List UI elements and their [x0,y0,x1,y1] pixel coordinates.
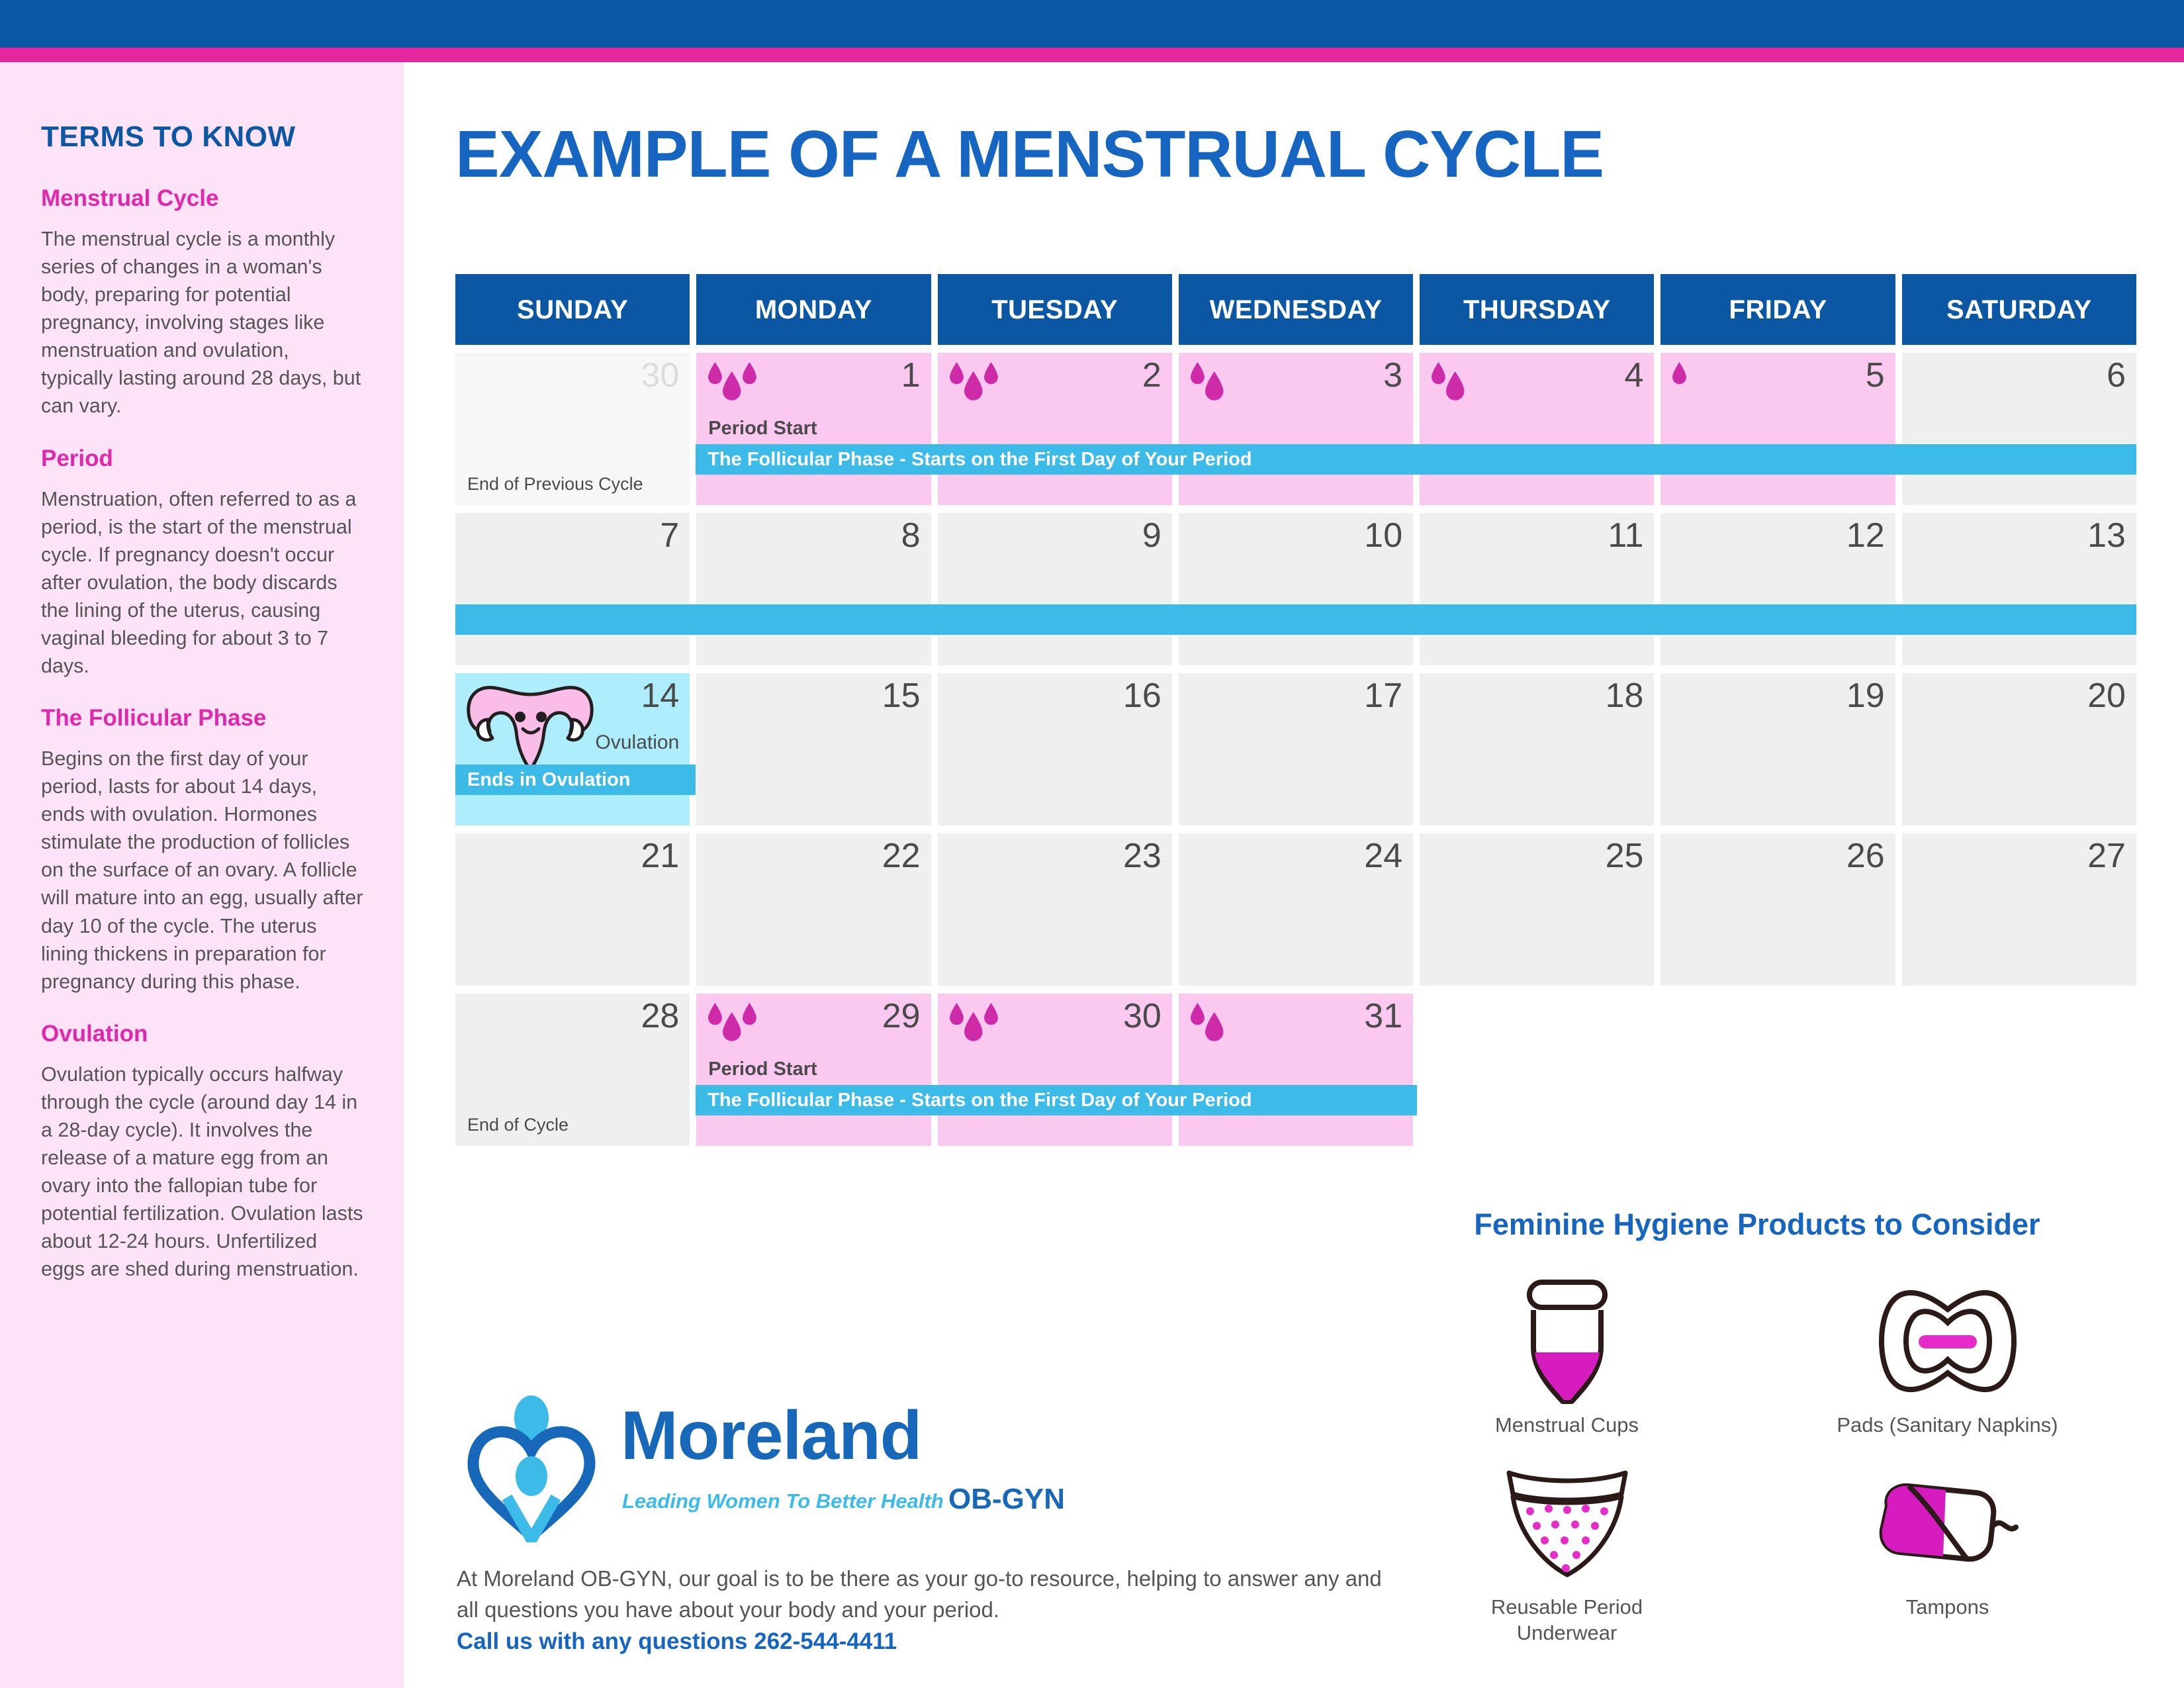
calendar-day-cell-11[interactable]: 11 [1420,513,1654,665]
calendar-day-cell-25[interactable]: 25 [1420,833,1654,986]
calendar-day-cell-empty[interactable] [1661,994,1895,1146]
term-body-2: Begins on the first day of your period, … [41,745,364,996]
product-label: Menstrual Cups [1377,1413,1757,1438]
tampon-icon [1757,1457,2138,1589]
product-tampon: Tampons [1757,1457,2138,1646]
calendar-day-cell-9[interactable]: 9 [938,513,1172,665]
cycle-boundary-label: End of Previous Cycle [467,474,643,494]
day-number: 24 [1364,837,1402,875]
day-number: 26 [1846,837,1885,875]
product-label: Reusable Period Underwear [1377,1595,1757,1646]
calendar-day-cell-8[interactable]: 8 [696,513,931,665]
term-body-0: The menstrual cycle is a monthly series … [41,225,364,420]
blood-drop-icon [708,1003,761,1047]
day-number: 22 [882,837,921,875]
footer-description: At Moreland OB-GYN, our goal is to be th… [457,1564,1396,1626]
calendar-day-cell-21[interactable]: 21 [455,833,690,986]
term-body-1: Menstruation, often referred to as a per… [41,485,364,680]
calendar-day-cell-1[interactable]: 1Period StartBeginning of New Cycle [696,353,931,505]
term-heading-0: Menstrual Cycle [41,185,364,212]
day-number: 20 [2087,677,2126,715]
product-sanitary-pad: Pads (Sanitary Napkins) [1757,1275,2138,1438]
calendar-day-cell-2[interactable]: 2 [938,353,1172,505]
calendar-day-cell-22[interactable]: 22 [696,833,931,986]
top-pink-accent-bar [0,48,2184,62]
day-number: 30 [641,357,679,395]
calendar-day-cell-17[interactable]: 17 [1179,673,1413,825]
calendar-day-cell-26[interactable]: 26 [1661,833,1895,986]
moreland-logo: Moreland Leading Women To Better Health … [455,1393,1117,1545]
calendar-day-cell-28[interactable]: 28End of Cycle [455,994,690,1146]
sanitary-pad-icon [1757,1275,2138,1407]
calendar-day-cell-6[interactable]: 6 [1902,353,2136,505]
calendar-day-cell-3[interactable]: 3 [1179,353,1413,505]
day-number: 3 [1383,357,1402,395]
terms-list: Menstrual CycleThe menstrual cycle is a … [41,185,364,1283]
menstrual-cup-icon [1377,1275,1757,1407]
calendar-day-cell-27[interactable]: 27 [1902,833,2136,986]
phase-bar-label: The Follicular Phase - Starts on the Fir… [707,449,1251,471]
calendar-day-cell-empty[interactable] [1902,994,2136,1146]
day-number: 14 [641,677,679,715]
product-label: Tampons [1757,1595,2138,1620]
terms-sidebar: TERMS TO KNOW Menstrual CycleThe menstru… [0,62,404,1688]
weekday-header-tuesday: TUESDAY [938,274,1172,345]
logo-wordmark: Moreland [621,1397,921,1476]
calendar-day-cell-14[interactable]: 14Ovulation [455,673,690,825]
calendar-week-row: 30End of Previous Cycle1Period StartBegi… [455,353,2136,505]
day-number: 17 [1364,677,1402,715]
calendar-week-row: 78910111213 [455,513,2136,665]
day-number: 5 [1866,357,1885,395]
term-heading-3: Ovulation [41,1021,364,1047]
calendar-day-cell-5[interactable]: 5Period End [1661,353,1895,505]
calendar-day-cell-30[interactable]: 30 [938,994,1172,1146]
calendar-day-cell-19[interactable]: 19 [1661,673,1895,825]
follicular-phase-bar-next-cycle: The Follicular Phase - Starts on the Fir… [696,1085,1417,1115]
calendar-day-cell-20[interactable]: 20 [1902,673,2136,825]
ovulation-label: Ovulation [596,731,680,754]
calendar-body: 30End of Previous Cycle1Period StartBegi… [455,353,2136,1146]
main-content: EXAMPLE OF A MENSTRUAL CYCLE SUNDAYMONDA… [404,62,2184,1688]
calendar-day-cell-23[interactable]: 23 [938,833,1172,986]
day-number: 31 [1364,998,1402,1035]
day-number: 28 [641,998,679,1035]
calendar-day-cell-24[interactable]: 24 [1179,833,1413,986]
blood-drop-icon [1672,362,1688,406]
blood-drop-icon [1191,1003,1225,1047]
day-number: 2 [1142,357,1161,395]
blood-drop-icon [950,362,1003,406]
product-label: Pads (Sanitary Napkins) [1757,1413,2138,1438]
logo-tagline: Leading Women To Better Health [622,1489,944,1513]
day-number: 25 [1606,837,1644,875]
follicular-phase-bar: The Follicular Phase - Starts on the Fir… [696,444,2136,475]
ends-in-ovulation-bar: Ends in Ovulation [455,765,696,795]
calendar-day-cell-30[interactable]: 30End of Previous Cycle [455,353,690,505]
calendar-day-cell-16[interactable]: 16 [938,673,1172,825]
period-start-label: Period Start [708,418,817,440]
product-period-underwear: Reusable Period Underwear [1377,1457,1757,1646]
sidebar-title: TERMS TO KNOW [41,120,364,154]
day-number: 30 [1123,998,1161,1035]
menstrual-cycle-calendar: SUNDAYMONDAYTUESDAYWEDNESDAYTHURSDAYFRID… [455,274,2136,1154]
day-number: 13 [2087,517,2126,555]
phase-bar-label: The Follicular Phase - Starts on the Fir… [707,1090,1251,1111]
weekday-header-thursday: THURSDAY [1420,274,1654,345]
day-number: 8 [901,517,921,555]
weekday-header-sunday: SUNDAY [455,274,690,345]
cycle-boundary-label: End of Cycle [467,1115,569,1135]
page-title: EXAMPLE OF A MENSTRUAL CYCLE [455,117,1604,193]
weekday-header-wednesday: WEDNESDAY [1179,274,1413,345]
day-number: 19 [1846,677,1885,715]
period-underwear-icon [1377,1457,1757,1589]
calendar-weekday-header: SUNDAYMONDAYTUESDAYWEDNESDAYTHURSDAYFRID… [455,274,2136,345]
term-heading-2: The Follicular Phase [41,705,364,731]
product-menstrual-cup: Menstrual Cups [1377,1275,1757,1438]
calendar-day-cell-4[interactable]: 4 [1420,353,1654,505]
day-number: 29 [882,998,921,1035]
calendar-day-cell-13[interactable]: 13 [1902,513,2136,665]
day-number: 10 [1364,517,1402,555]
day-number: 7 [660,517,679,555]
period-start-label: Period Start [708,1058,817,1080]
day-number: 23 [1123,837,1161,875]
weekday-header-monday: MONDAY [696,274,931,345]
calendar-day-cell-29[interactable]: 29Period StartBeginning of New Cycle [696,994,931,1146]
day-number: 11 [1608,517,1643,555]
phase-bar-label: Ends in Ovulation [467,769,631,791]
day-number: 21 [641,837,679,875]
day-number: 6 [2107,357,2126,395]
calendar-day-cell-31[interactable]: 31 [1179,994,1413,1146]
calendar-day-cell-7[interactable]: 7 [455,513,690,665]
products-grid: Menstrual Cups Pads (Sanitary Napkins) R… [1377,1275,2138,1646]
calendar-week-row: 14Ovulation151617181920Ends in Ovulation [455,673,2136,825]
day-number: 12 [1846,517,1885,555]
blood-drop-icon [950,1003,1003,1047]
calendar-week-row: 28End of Cycle29Period StartBeginning of… [455,994,2136,1146]
day-number: 16 [1123,677,1161,715]
day-number: 18 [1606,677,1644,715]
calendar-week-row: 21222324252627 [455,833,2136,986]
calendar-day-cell-12[interactable]: 12 [1661,513,1895,665]
logo-suffix: OB-GYN [948,1483,1065,1516]
moreland-heart-logo-icon [455,1393,608,1542]
feminine-hygiene-products: Feminine Hygiene Products to Consider Me… [1377,1207,2138,1646]
calendar-day-cell-18[interactable]: 18 [1420,673,1654,825]
top-blue-banner [0,0,2184,48]
blood-drop-icon [1432,362,1466,406]
footer-phone-line: Call us with any questions 262-544-4411 [457,1628,897,1655]
day-number: 15 [882,677,921,715]
blood-drop-icon [708,362,761,406]
term-heading-1: Period [41,445,364,472]
calendar-day-cell-15[interactable]: 15 [696,673,931,825]
uterus-icon [459,679,602,778]
weekday-header-saturday: SATURDAY [1902,274,2136,345]
weekday-header-friday: FRIDAY [1661,274,1895,345]
day-number: 4 [1625,357,1644,395]
calendar-day-cell-empty[interactable] [1420,994,1654,1146]
blood-drop-icon [1191,362,1225,406]
day-number: 27 [2087,837,2126,875]
day-number: 1 [901,357,921,395]
follicular-phase-bar-continued [455,604,2136,635]
term-body-3: Ovulation typically occurs halfway throu… [41,1060,364,1284]
calendar-day-cell-10[interactable]: 10 [1179,513,1413,665]
products-title: Feminine Hygiene Products to Consider [1377,1207,2138,1242]
day-number: 9 [1142,517,1161,555]
